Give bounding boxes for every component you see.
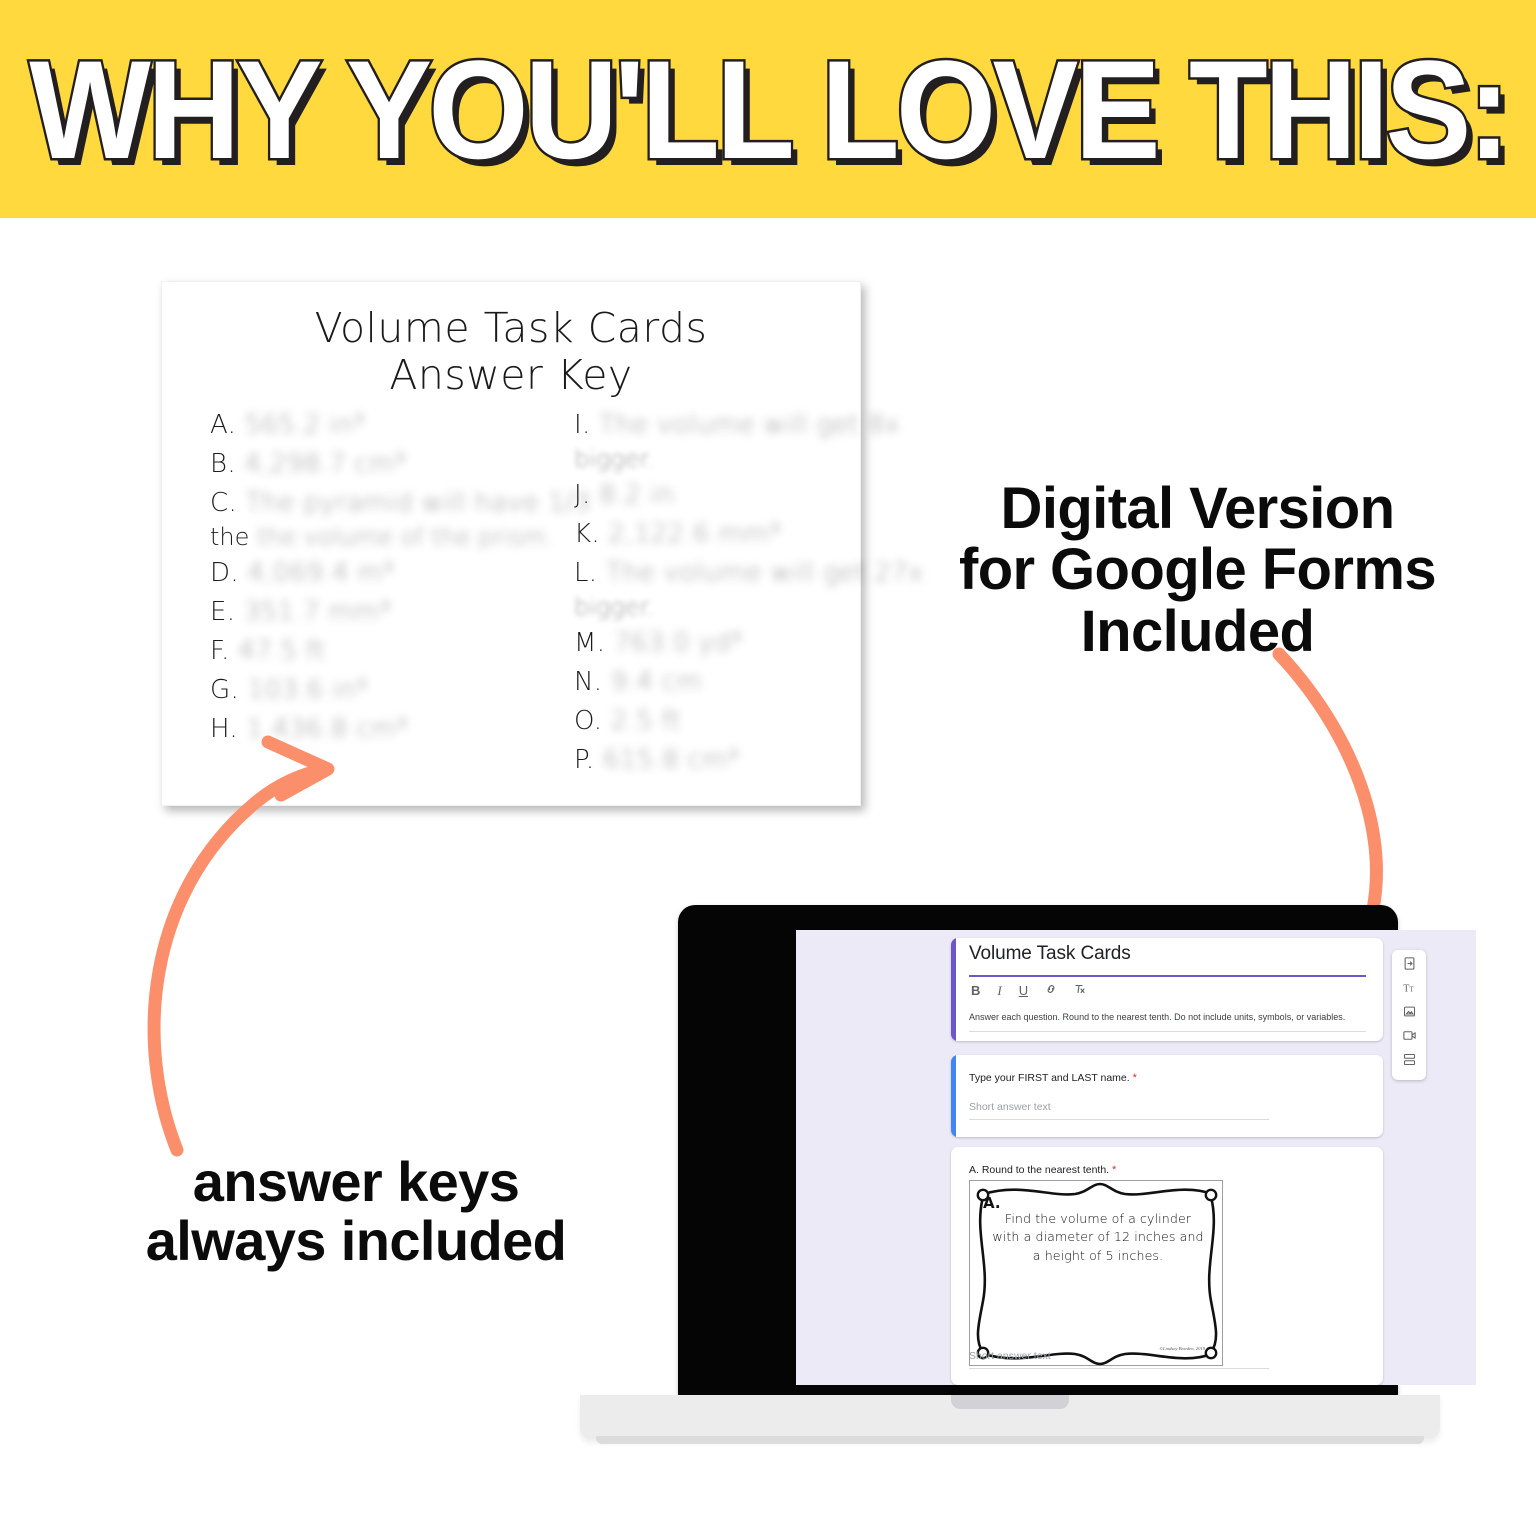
answer-key-item-answer: The volume will get 8x bbox=[599, 410, 900, 440]
answer-key-item: M. 763.0 yd³ bbox=[574, 628, 862, 658]
answer-key-item-label: K. bbox=[574, 519, 600, 549]
answer-key-item-label: B. bbox=[210, 449, 236, 479]
question-label-text: A. Round to the nearest tenth. bbox=[969, 1164, 1109, 1176]
answer-key-item-answer: 4,069.4 m³ bbox=[247, 558, 393, 588]
add-image-icon[interactable] bbox=[1402, 1004, 1417, 1019]
answer-key-item-answer: 1,436.8 cm³ bbox=[247, 714, 408, 744]
answer-key-item-label: L. bbox=[574, 558, 597, 588]
callout-digital-version: Digital Version for Google Forms Include… bbox=[930, 478, 1465, 662]
answer-key-item-label: N. bbox=[574, 667, 602, 697]
form-header-accent-bar bbox=[951, 938, 956, 1041]
answer-key-item-answer: The pyramid will have 1/3 bbox=[246, 488, 591, 518]
answer-key-item-label: P. bbox=[574, 745, 595, 775]
answer-key-item-label: D. bbox=[210, 558, 239, 588]
form-title[interactable]: Volume Task Cards bbox=[969, 943, 1131, 965]
answer-key-item-wrap: the the volume of the prism. bbox=[210, 523, 512, 551]
answer-key-item-label: O. bbox=[574, 706, 602, 736]
laptop-screen: Volume Task Cards B I U Answer each que bbox=[796, 930, 1476, 1385]
answer-key-item: K. 2,122.6 mm³ bbox=[574, 519, 862, 549]
answer-key-column-left: A. 565.2 in³ B. 4,298.7 cm³ C. The pyram… bbox=[162, 410, 512, 784]
google-form-editor: Volume Task Cards B I U Answer each que bbox=[796, 930, 1476, 1385]
laptop-mockup: Volume Task Cards B I U Answer each que bbox=[580, 905, 1440, 1460]
callout-answer-keys: answer keys always included bbox=[96, 1152, 616, 1271]
svg-text:T: T bbox=[1403, 983, 1409, 994]
answer-key-item: H. 1,436.8 cm³ bbox=[210, 714, 512, 744]
form-question-card[interactable]: Type your FIRST and LAST name. * Short a… bbox=[951, 1055, 1383, 1137]
answer-key-item: P. 615.8 cm³ bbox=[574, 745, 862, 775]
answer-key-item-answer: 2,122.6 mm³ bbox=[609, 519, 781, 549]
answer-key-item-answer: 9.4 cm bbox=[611, 667, 702, 697]
answer-key-document: Volume Task Cards Answer Key A. 565.2 in… bbox=[161, 281, 861, 806]
answer-key-title-line-1: Volume Task Cards bbox=[162, 305, 860, 352]
answer-key-item: N. 9.4 cm bbox=[574, 667, 862, 697]
svg-text:T: T bbox=[1409, 986, 1414, 993]
form-header-card[interactable]: Volume Task Cards B I U Answer each que bbox=[951, 938, 1383, 1041]
answer-key-item-label: C. bbox=[210, 488, 237, 518]
required-asterisk: * bbox=[1112, 1164, 1116, 1176]
answer-key-item: G. 103.6 in³ bbox=[210, 675, 512, 705]
answer-key-item-answer: 8.2 in bbox=[599, 480, 674, 510]
laptop-bezel: Volume Task Cards B I U Answer each que bbox=[678, 905, 1398, 1397]
laptop-foot bbox=[596, 1436, 1424, 1444]
form-question-card[interactable]: A. Round to the nearest tenth. * bbox=[951, 1147, 1383, 1385]
required-asterisk: * bbox=[1133, 1072, 1137, 1084]
add-section-icon[interactable] bbox=[1402, 1052, 1417, 1067]
answer-key-item: F. 47.5 ft bbox=[210, 636, 512, 666]
task-card-copyright: ©Lindsay Bowden, 2019 bbox=[1160, 1346, 1205, 1351]
answer-key-item-label: I. bbox=[574, 410, 591, 440]
answer-key-columns: A. 565.2 in³ B. 4,298.7 cm³ C. The pyram… bbox=[162, 410, 862, 784]
answer-key-item-answer: 103.6 in³ bbox=[248, 675, 368, 705]
answer-key-item-answer: 565.2 in³ bbox=[245, 410, 365, 440]
answer-key-title-line-2: Answer Key bbox=[162, 352, 860, 399]
short-answer-underline bbox=[969, 1368, 1269, 1369]
answer-key-item-label: G. bbox=[210, 675, 239, 705]
add-video-icon[interactable] bbox=[1402, 1028, 1417, 1043]
answer-key-item: D. 4,069.4 m³ bbox=[210, 558, 512, 588]
task-card-question-text: Find the volume of a cylinder with a dia… bbox=[992, 1210, 1204, 1265]
answer-key-item-label: M. bbox=[574, 628, 605, 658]
answer-key-item-wrap: bigger. bbox=[574, 593, 862, 621]
answer-key-item: O. 2.5 ft bbox=[574, 706, 862, 736]
answer-key-item-label: A. bbox=[210, 410, 236, 440]
answer-key-item-wrap: bigger. bbox=[574, 445, 862, 473]
short-answer-placeholder[interactable]: Short answer text bbox=[969, 1101, 1051, 1113]
answer-key-item-wrap-text: bigger. bbox=[574, 445, 655, 473]
link-icon[interactable] bbox=[1045, 983, 1057, 997]
question-label: Type your FIRST and LAST name. * bbox=[969, 1072, 1137, 1084]
answer-key-item: C. The pyramid will have 1/3 bbox=[210, 488, 512, 518]
form-description-underline bbox=[969, 1031, 1366, 1032]
answer-key-item: A. 565.2 in³ bbox=[210, 410, 512, 440]
italic-icon[interactable]: I bbox=[997, 984, 1001, 997]
answer-key-item: B. 4,298.7 cm³ bbox=[210, 449, 512, 479]
answer-key-item-answer: 615.8 cm³ bbox=[603, 745, 738, 775]
answer-key-item-answer: 2.5 ft bbox=[611, 706, 681, 736]
answer-key-item-label: E. bbox=[210, 597, 235, 627]
clear-formatting-icon[interactable] bbox=[1074, 983, 1086, 997]
task-card-image[interactable]: A. Find the volume of a cylinder with a … bbox=[969, 1180, 1223, 1366]
answer-key-item: E. 351.7 mm³ bbox=[210, 597, 512, 627]
answer-key-item-wrap-text: bigger. bbox=[574, 593, 655, 621]
answer-key-item-answer: The volume will get 27x bbox=[606, 558, 924, 588]
bold-icon[interactable]: B bbox=[971, 984, 980, 997]
header-banner: WHY YOU'LL LOVE THIS: bbox=[0, 0, 1536, 218]
rich-text-toolbar: B I U bbox=[971, 983, 1086, 997]
answer-key-item-label: H. bbox=[210, 714, 238, 744]
answer-key-item-wrap-text: the volume of the prism. bbox=[257, 523, 554, 551]
form-title-underline bbox=[969, 975, 1366, 977]
short-answer-placeholder[interactable]: Short answer text bbox=[969, 1350, 1051, 1362]
add-question-icon[interactable] bbox=[1402, 956, 1417, 971]
short-answer-underline bbox=[969, 1119, 1269, 1120]
answer-key-item-answer: 47.5 ft bbox=[238, 636, 325, 666]
laptop-notch bbox=[951, 1395, 1069, 1409]
answer-key-item-answer: 763.0 yd³ bbox=[614, 628, 742, 658]
add-title-icon[interactable]: TT bbox=[1402, 980, 1417, 995]
page-title: WHY YOU'LL LOVE THIS: bbox=[29, 43, 1507, 176]
answer-key-title: Volume Task Cards Answer Key bbox=[162, 282, 860, 398]
decorative-wavy-border-icon bbox=[970, 1181, 1224, 1367]
question-label-text: Type your FIRST and LAST name. bbox=[969, 1072, 1130, 1084]
answer-key-item: J. 8.2 in bbox=[574, 480, 862, 510]
question-accent-bar bbox=[951, 1055, 956, 1137]
form-description[interactable]: Answer each question. Round to the neare… bbox=[969, 1012, 1369, 1024]
answer-key-column-right: I. The volume will get 8x bigger. J. 8.2… bbox=[512, 410, 862, 784]
question-label: A. Round to the nearest tenth. * bbox=[969, 1164, 1116, 1176]
underline-icon[interactable]: U bbox=[1019, 984, 1028, 997]
answer-key-item-answer: 351.7 mm³ bbox=[244, 597, 390, 627]
answer-key-item: L. The volume will get 27x bbox=[574, 558, 862, 588]
answer-key-item: I. The volume will get 8x bbox=[574, 410, 862, 440]
form-side-toolbar: TT bbox=[1392, 950, 1426, 1080]
answer-key-item-answer: 4,298.7 cm³ bbox=[244, 449, 405, 479]
answer-key-item-label: F. bbox=[210, 636, 230, 666]
